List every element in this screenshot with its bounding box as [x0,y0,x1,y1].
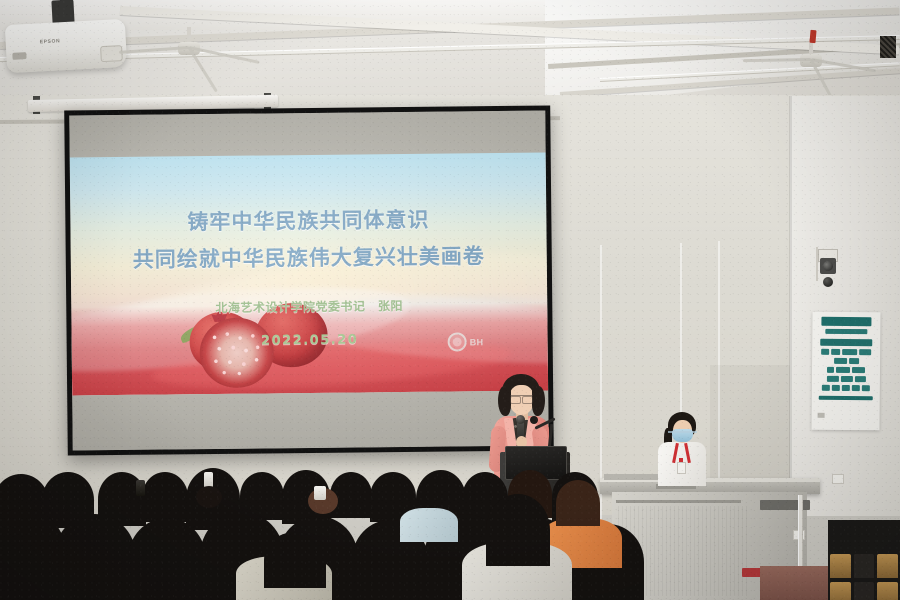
poster-chart-row [816,367,876,374]
poster-node [859,349,871,355]
ceiling: EPSON [0,0,900,108]
poster-node [842,385,850,391]
slide-title-line-2: 共同绘就中华民族伟大复兴壮美画卷 [71,240,547,275]
ceiling-projector: EPSON [5,19,127,73]
seat-mesh-panel [880,36,896,58]
poster-hero-bar [820,339,872,346]
poster-chart-row [816,358,876,365]
poster-node [831,349,840,355]
slide-title-line-1: 铸牢中华民族共同体意识 [70,203,546,238]
audience-shoulders-pale-blue [400,508,458,542]
fan-rod [187,27,191,43]
poster-subtitle-bar [825,329,867,334]
hair-bun [196,486,222,508]
poster-node [862,385,870,391]
audience-head [556,480,600,526]
poster-node [854,376,865,382]
poster-node [832,385,840,391]
poster-node [852,367,865,373]
poster-footer-bar [819,396,873,400]
poster-node [822,385,830,391]
microphone-head-icon [516,415,525,424]
poster-node [827,367,834,373]
projection-screen-surface: BH 铸牢中华民族共同体意识 共同绘就中华民族伟大复兴壮美画卷 北海艺术设计学院… [69,111,548,451]
audience [0,440,900,600]
audience-head [264,532,326,588]
organization-chart-poster [811,312,880,431]
screen-blank-band-top [69,111,545,158]
pomegranate-open-seeds [199,317,274,388]
poster-chart-row [816,376,876,383]
hair-clip [314,486,326,500]
poster-node [849,358,859,364]
camera-lens-icon [823,261,833,271]
poster-node [840,376,852,382]
poster-node [821,349,829,355]
audience-head [142,472,188,522]
hair-clip [136,480,145,496]
audience-head [54,514,136,600]
presenter-hair-right [532,386,545,416]
audience-head [128,518,206,600]
poster-node [836,367,850,373]
face-mask-strap [668,431,697,433]
lecture-hall-photo: EPSON [0,0,900,600]
eyeglasses-icon [510,395,533,401]
lectern-mic-head-icon [530,416,538,424]
fire-sprinkler [809,30,816,43]
projection-screen: BH 铸牢中华民族共同体意识 共同绘就中华民族伟大复兴壮美画卷 北海艺术设计学院… [64,105,554,455]
poster-corner-mark [818,413,825,418]
poster-node [852,385,860,391]
poster-title-bar [821,317,871,326]
camera-dome-icon [823,277,833,287]
poster-node [834,358,847,364]
audience-head [486,494,550,566]
poster-node [826,376,838,382]
poster-node [842,349,857,355]
presentation-slide: BH 铸牢中华民族共同体意识 共同绘就中华民族伟大复兴壮美画卷 北海艺术设计学院… [70,153,548,396]
poster-chart-row [816,349,876,356]
projector-vent [12,52,26,60]
poster-chart-row [816,385,876,392]
projector-brand-label: EPSON [40,38,61,45]
